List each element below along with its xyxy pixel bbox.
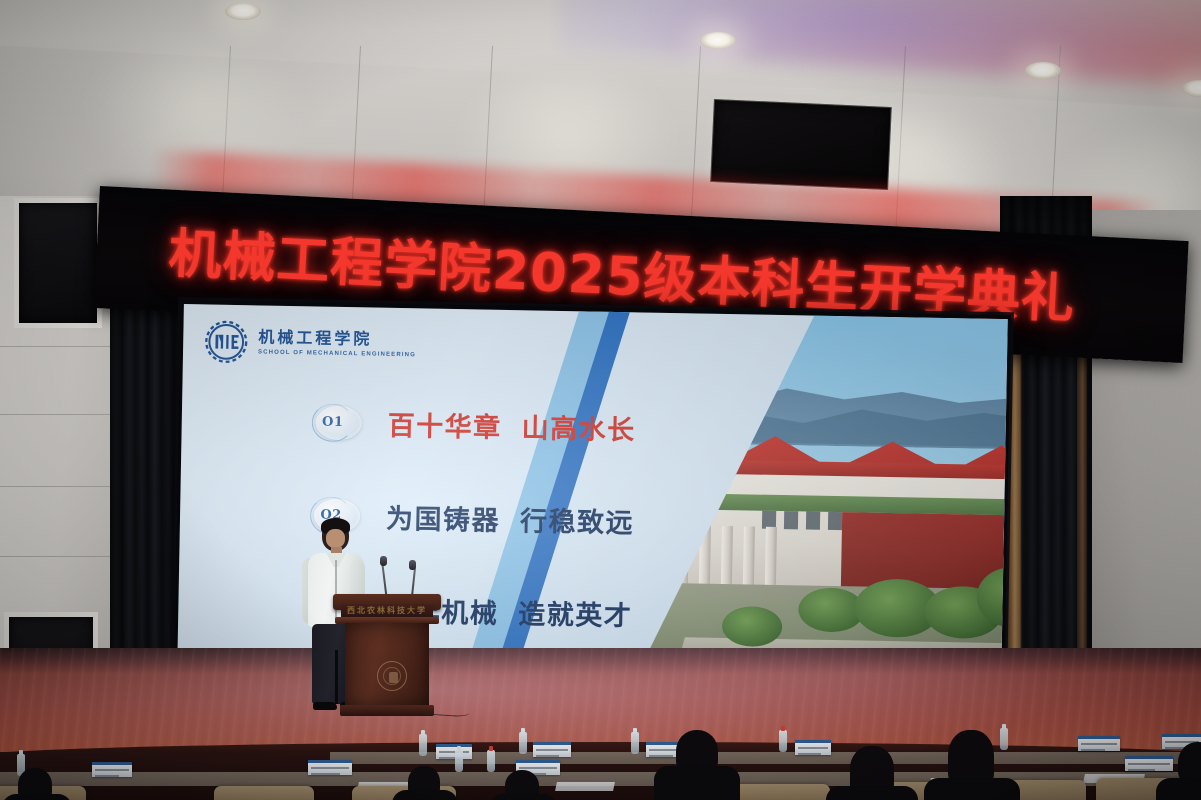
audience-person-body bbox=[1156, 778, 1201, 800]
name-placard bbox=[646, 742, 680, 757]
water-bottle bbox=[1000, 728, 1008, 750]
audience-person-body bbox=[826, 786, 918, 800]
logo-chinese-name: 机械工程学院 bbox=[258, 330, 416, 350]
audience-person-body bbox=[654, 766, 740, 800]
name-placard bbox=[1125, 756, 1173, 771]
ceiling-downlight bbox=[700, 32, 736, 49]
item-number: O1 bbox=[322, 415, 344, 430]
ceiling-black-panel bbox=[710, 99, 892, 190]
podium-inscription: 西北农林科技大学 bbox=[347, 605, 427, 616]
gear-me-emblem-icon bbox=[203, 318, 250, 365]
item-text: 百十华章山高水长 bbox=[387, 404, 636, 448]
name-placard bbox=[795, 740, 831, 755]
name-placard bbox=[436, 744, 472, 759]
audience-person-body bbox=[489, 794, 557, 800]
logo-english-name: SCHOOL OF MECHANICAL ENGINEERING bbox=[258, 349, 416, 358]
water-bottle bbox=[419, 734, 427, 756]
ceiling-downlight bbox=[1025, 62, 1061, 79]
item-number-badge: O1 bbox=[309, 403, 364, 442]
name-placard bbox=[92, 762, 132, 777]
auditorium-scene: 机械工程学院2025级本科生开学典礼 bbox=[0, 0, 1201, 800]
water-bottle bbox=[779, 730, 787, 752]
item-text-seg2: 山高水长 bbox=[521, 413, 636, 446]
audience-person-body bbox=[924, 778, 1020, 800]
water-bottle bbox=[631, 732, 639, 754]
water-bottle bbox=[455, 750, 463, 772]
audience-chair bbox=[214, 786, 314, 800]
slide-campus-photo bbox=[571, 311, 1007, 675]
school-logo: 机械工程学院 SCHOOL OF MECHANICAL ENGINEERING bbox=[203, 318, 417, 368]
name-placard bbox=[533, 742, 571, 757]
audience-area bbox=[0, 716, 1201, 800]
audience-person-body bbox=[392, 790, 458, 800]
university-emblem-icon bbox=[377, 661, 407, 691]
slide-list-item: O1 百十华章山高水长 bbox=[309, 402, 636, 447]
document-paper bbox=[555, 782, 615, 791]
name-placard bbox=[308, 760, 352, 775]
water-bottle bbox=[487, 750, 495, 772]
item-text: 为国铸器行稳致远 bbox=[386, 497, 635, 541]
stage-back-shadow bbox=[0, 648, 1201, 674]
podium: 西北农林科技大学 bbox=[339, 594, 435, 716]
item-text-seg1: 为国铸器 bbox=[386, 504, 501, 537]
item-text-seg1: 百十华章 bbox=[387, 411, 502, 444]
audience-person-body bbox=[2, 794, 72, 800]
acoustic-panel-upper bbox=[14, 198, 102, 328]
water-bottle bbox=[519, 732, 527, 754]
name-placard bbox=[1078, 736, 1120, 751]
audience-chair bbox=[726, 784, 830, 800]
item-text-seg2: 造就英才 bbox=[518, 599, 633, 632]
item-text-seg2: 行稳致远 bbox=[520, 506, 635, 539]
ceiling-downlight bbox=[225, 3, 261, 20]
